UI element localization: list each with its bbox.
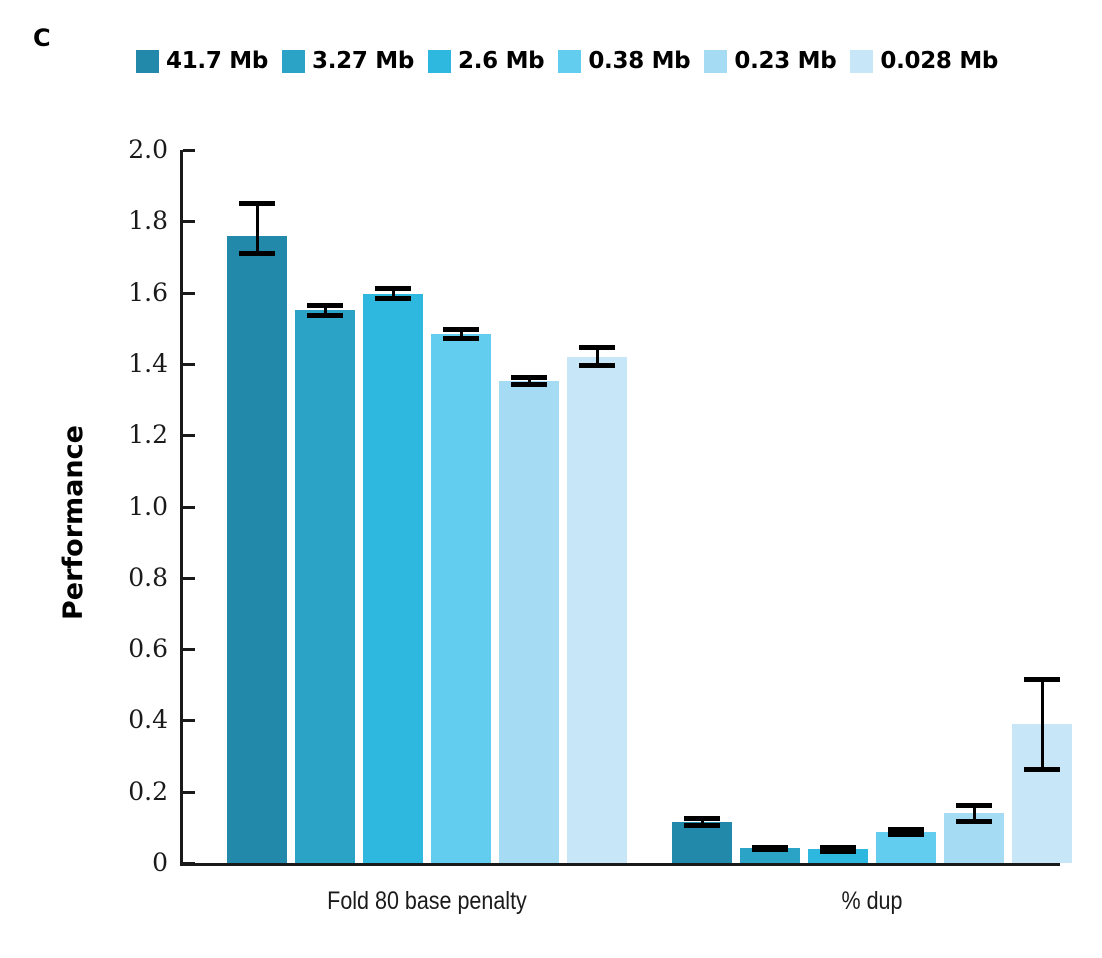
y-axis-tick-label: 0.6 <box>88 636 168 661</box>
bar <box>295 310 355 863</box>
y-axis-tick <box>183 220 195 223</box>
y-axis-tick-label: 2.0 <box>88 137 168 162</box>
y-axis-tick <box>183 648 195 651</box>
error-bar-cap-upper <box>579 345 615 350</box>
bar <box>227 236 287 863</box>
bar <box>363 294 423 863</box>
error-bar-cap-lower <box>511 382 547 387</box>
error-bar-cap-upper <box>956 803 992 808</box>
bar <box>567 357 627 863</box>
error-bar-cap-upper <box>239 201 275 206</box>
y-axis-tick-label: 1.0 <box>88 494 168 519</box>
error-bar-cap-lower <box>684 823 720 828</box>
x-axis-line <box>180 863 1060 866</box>
error-bar-cap-lower <box>443 336 479 341</box>
error-bar-cap-upper <box>375 286 411 291</box>
y-axis-tick <box>183 506 195 509</box>
y-axis-tick <box>183 292 195 295</box>
y-axis-tick-label: 1.4 <box>88 351 168 376</box>
error-bar-cap-lower <box>1024 767 1060 772</box>
y-axis-tick <box>183 149 195 152</box>
error-bar-cap-lower <box>375 296 411 301</box>
y-axis-tick <box>183 434 195 437</box>
error-bar-cap-lower <box>888 832 924 837</box>
error-bar-line <box>1041 679 1044 769</box>
bar <box>431 334 491 863</box>
y-axis-tick-label: 0.2 <box>88 779 168 804</box>
y-axis-tick <box>183 363 195 366</box>
y-axis-tick-label: 0.4 <box>88 707 168 732</box>
y-axis-tick-label: 0 <box>88 850 168 875</box>
y-axis-tick <box>183 862 195 865</box>
figure-panel-c: C 41.7 Mb3.27 Mb2.6 Mb0.38 Mb0.23 Mb0.02… <box>0 0 1102 958</box>
error-bar-cap-upper <box>1024 677 1060 682</box>
error-bar-cap-lower <box>752 847 788 852</box>
error-bar-cap-upper <box>684 816 720 821</box>
error-bar-cap-upper <box>511 375 547 380</box>
y-axis-tick-label: 1.8 <box>88 208 168 233</box>
y-axis-tick-label: 1.6 <box>88 280 168 305</box>
error-bar-cap-lower <box>956 819 992 824</box>
error-bar-cap-lower <box>820 849 856 854</box>
y-axis-tick-label: 0.8 <box>88 565 168 590</box>
error-bar-cap-upper <box>443 327 479 332</box>
bar <box>499 381 559 863</box>
plot-area: 2.01.81.61.41.21.00.80.60.40.20Fold 80 b… <box>0 0 1102 958</box>
y-axis-tick <box>183 577 195 580</box>
error-bar-cap-lower <box>307 313 343 318</box>
x-axis-group-label: % dup <box>597 887 1102 916</box>
error-bar-cap-lower <box>579 363 615 368</box>
y-axis-tick <box>183 719 195 722</box>
bar <box>672 822 732 863</box>
error-bar-cap-upper <box>307 303 343 308</box>
error-bar-line <box>256 203 259 253</box>
y-axis-tick <box>183 791 195 794</box>
error-bar-cap-lower <box>239 251 275 256</box>
y-axis-tick-label: 1.2 <box>88 422 168 447</box>
